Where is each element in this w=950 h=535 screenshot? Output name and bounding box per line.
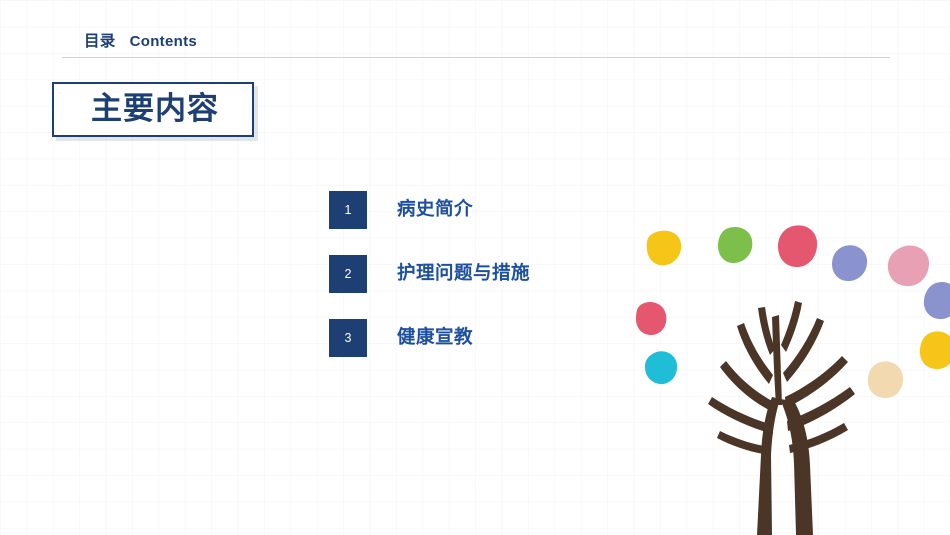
list-item-label: 健康宣教: [397, 319, 473, 357]
list-item-number: 1: [329, 191, 367, 229]
tree-illustration: [620, 225, 950, 535]
header-title-en: Contents: [130, 33, 197, 50]
list-item[interactable]: 3 健康宣教: [329, 319, 659, 357]
list-item[interactable]: 1 病史简介: [329, 191, 659, 229]
slide: 目录Contents 主要内容 1 病史简介 2 护理问题与措施 3 健康宣教: [0, 0, 950, 535]
header-title: 目录Contents: [84, 29, 197, 51]
list-item-number: 3: [329, 319, 367, 357]
header-title-cn: 目录: [84, 32, 116, 50]
page-title: 主要内容: [54, 84, 256, 135]
list-item-label: 病史简介: [397, 191, 473, 229]
list-item-label: 护理问题与措施: [397, 255, 530, 293]
contents-list: 1 病史简介 2 护理问题与措施 3 健康宣教: [329, 191, 659, 383]
list-item-number: 2: [329, 255, 367, 293]
slide-header: 目录Contents: [0, 0, 950, 60]
list-item[interactable]: 2 护理问题与措施: [329, 255, 659, 293]
header-divider: [62, 57, 890, 58]
page-title-box: 主要内容: [52, 82, 254, 137]
